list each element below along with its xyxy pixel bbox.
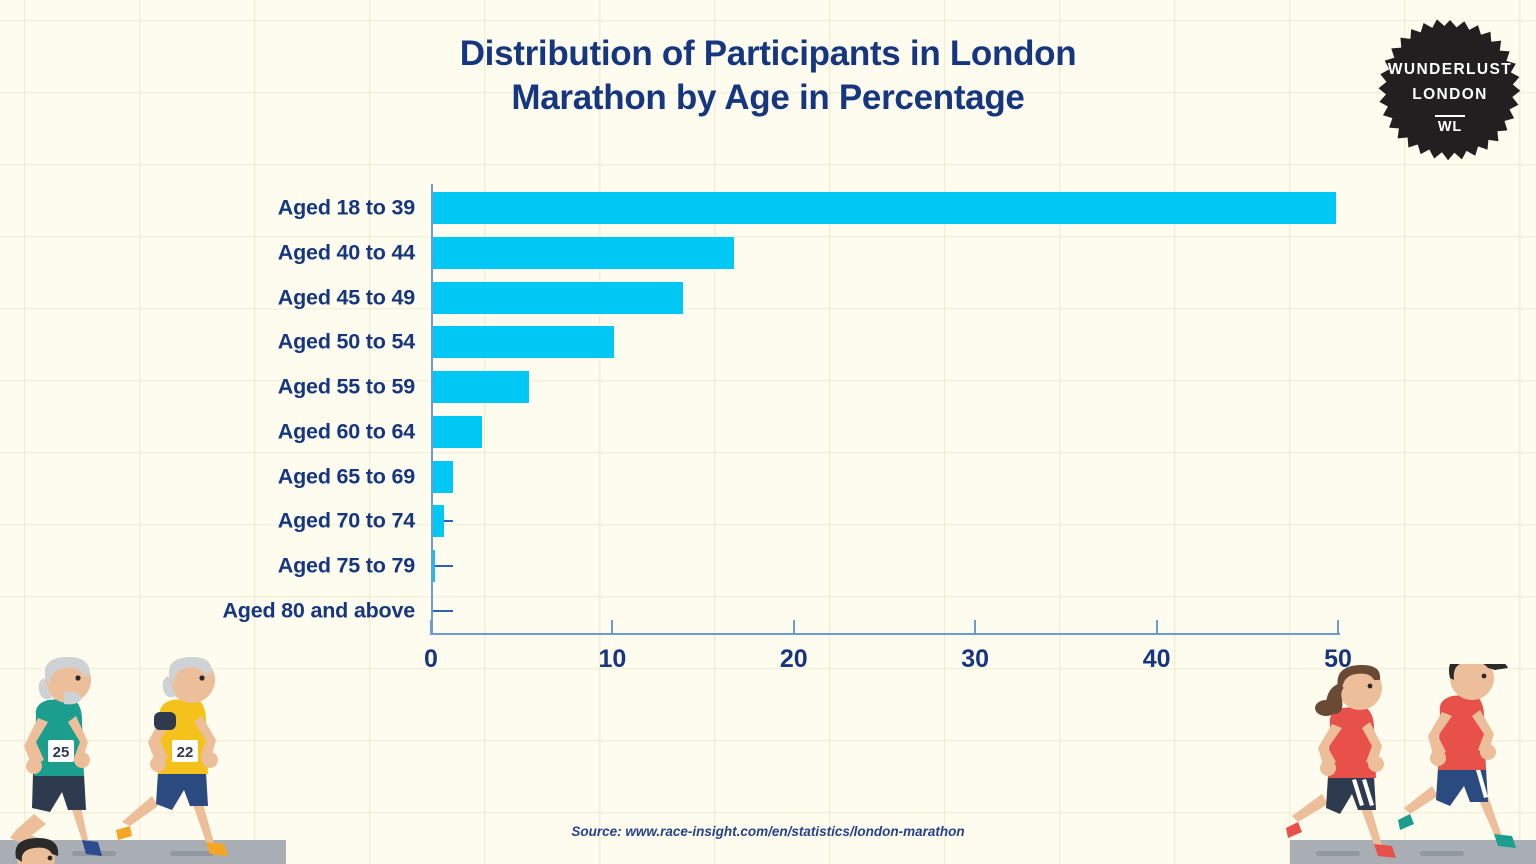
chart-bar[interactable]: [433, 505, 444, 537]
chart-category-row: Aged 45 to 49: [0, 275, 1536, 320]
chart-bar[interactable]: [433, 371, 529, 403]
y-axis-category-label: Aged 18 to 39: [278, 196, 415, 221]
chart-bar[interactable]: [433, 461, 453, 493]
chart-category-row: Aged 75 to 79: [0, 544, 1536, 589]
x-axis-tick-label: 0: [424, 645, 438, 674]
x-axis-tick-label: 40: [1143, 645, 1171, 674]
y-axis-tick: [433, 610, 453, 612]
chart-bar[interactable]: [433, 282, 683, 314]
y-axis-category-label: Aged 60 to 64: [278, 419, 415, 444]
x-axis-tick: [1156, 620, 1158, 635]
y-axis-category-label: Aged 40 to 44: [278, 241, 415, 266]
y-axis-category-label: Aged 45 to 49: [278, 285, 415, 310]
chart-category-row: Aged 70 to 74: [0, 499, 1536, 544]
y-axis-category-label: Aged 80 and above: [222, 598, 415, 623]
chart-bar[interactable]: [433, 192, 1336, 224]
y-axis-category-label: Aged 75 to 79: [278, 553, 415, 578]
chart-category-row: Aged 40 to 44: [0, 231, 1536, 276]
x-axis-tick: [974, 620, 976, 635]
chart-category-row: Aged 80 and above: [0, 588, 1536, 633]
x-axis-tick-label: 30: [961, 645, 989, 674]
y-axis-tick: [433, 565, 453, 567]
x-axis-tick-label: 20: [780, 645, 808, 674]
y-axis-category-label: Aged 50 to 54: [278, 330, 415, 355]
x-axis-tick: [1337, 620, 1339, 635]
x-axis-tick-label: 10: [598, 645, 626, 674]
y-axis-category-label: Aged 70 to 74: [278, 509, 415, 534]
chart-bar[interactable]: [433, 550, 435, 582]
runner-figure-man-red: [1398, 664, 1516, 848]
x-axis-tick: [611, 620, 613, 635]
chart-category-row: Aged 65 to 69: [0, 454, 1536, 499]
chart-category-row: Aged 18 to 39: [0, 186, 1536, 231]
y-axis-category-label: Aged 55 to 59: [278, 375, 415, 400]
y-axis-category-label: Aged 65 to 69: [278, 464, 415, 489]
chart-bar[interactable]: [433, 237, 734, 269]
chart-category-row: Aged 60 to 64: [0, 410, 1536, 455]
illustration-runner-head-partial: [8, 836, 68, 864]
chart-category-row: Aged 50 to 54: [0, 320, 1536, 365]
chart-bar[interactable]: [433, 416, 482, 448]
x-axis-line: [431, 633, 1340, 635]
runner-figure-senior-teal: 25: [10, 657, 102, 856]
chart-category-row: Aged 55 to 59: [0, 365, 1536, 410]
runner-bib-number: 25: [53, 744, 70, 761]
infographic-canvas: Distribution of Participants in London M…: [0, 0, 1536, 864]
runner-figure-woman-red: [1286, 665, 1396, 858]
illustration-senior-runners: 25: [6, 654, 296, 864]
chart-bar[interactable]: [433, 326, 614, 358]
illustration-young-runners: [1282, 664, 1532, 864]
runner-bib-number: 22: [177, 744, 194, 761]
x-axis-tick: [430, 620, 432, 635]
x-axis-tick: [793, 620, 795, 635]
runner-figure-senior-yellow: 22: [116, 657, 228, 856]
